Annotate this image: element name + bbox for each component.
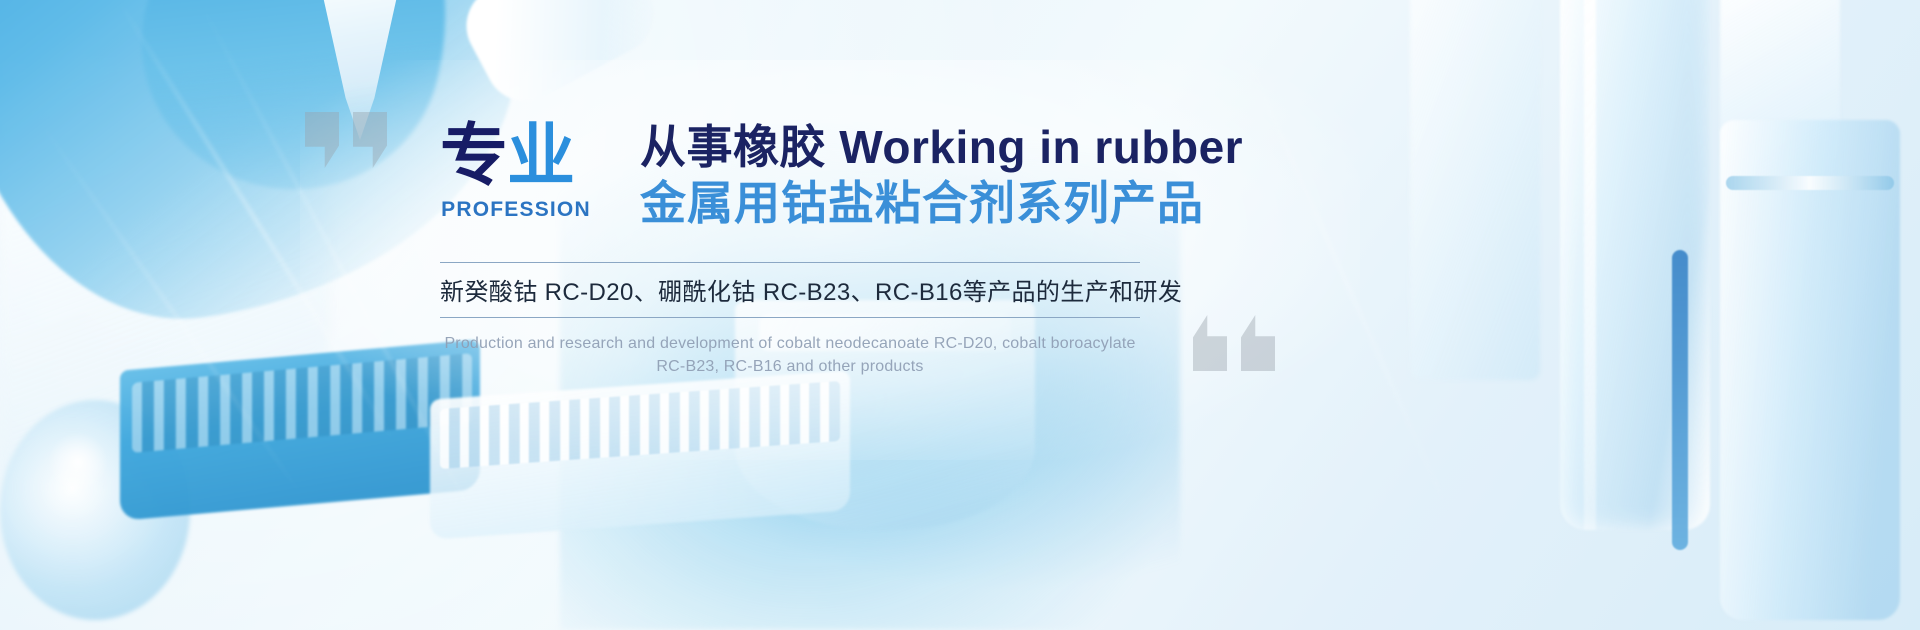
subtitle-chinese: 新癸酸钴 RC-D20、硼酰化钴 RC-B23、RC-B16等产品的生产和研发 [440, 272, 1140, 307]
open-quote-icon [305, 112, 387, 168]
logo-char-zhuan: 专 [440, 118, 507, 194]
banner-content: 专业 PROFESSION 从事橡胶 Working in rubber 金属用… [440, 118, 1180, 378]
hero-banner: 专业 PROFESSION 从事橡胶 Working in rubber 金属用… [0, 0, 1920, 630]
logo-english-label: PROFESSION [440, 198, 592, 222]
headline-line-2: 金属用钴盐粘合剂系列产品 [640, 176, 1243, 230]
subtitle-english: Production and research and development … [440, 332, 1140, 378]
logo-char-ye: 业 [507, 118, 574, 194]
open-quote-glyph-left [305, 112, 339, 168]
flask-highlight [48, 432, 108, 492]
graduated-cylinder-rim [1726, 176, 1894, 190]
blue-stirring-rod [1672, 250, 1688, 550]
profession-logo: 专业 PROFESSION [440, 118, 592, 222]
close-quote-icon [1193, 315, 1275, 371]
headline-row: 专业 PROFESSION 从事橡胶 Working in rubber 金属用… [440, 118, 1180, 240]
close-quote-glyph-left [1193, 315, 1227, 371]
close-quote-glyph-right [1241, 315, 1275, 371]
headline-texts: 从事橡胶 Working in rubber 金属用钴盐粘合剂系列产品 [640, 118, 1243, 231]
subtitle-chinese-container: 新癸酸钴 RC-D20、硼酰化钴 RC-B23、RC-B16等产品的生产和研发 [440, 262, 1140, 318]
open-quote-glyph-right [353, 112, 387, 168]
logo-chinese: 专业 [440, 122, 592, 190]
graduated-cylinder-far-right [1720, 120, 1900, 620]
glass-cylinder-back [1410, 0, 1540, 380]
headline-line-1: 从事橡胶 Working in rubber [640, 120, 1243, 174]
